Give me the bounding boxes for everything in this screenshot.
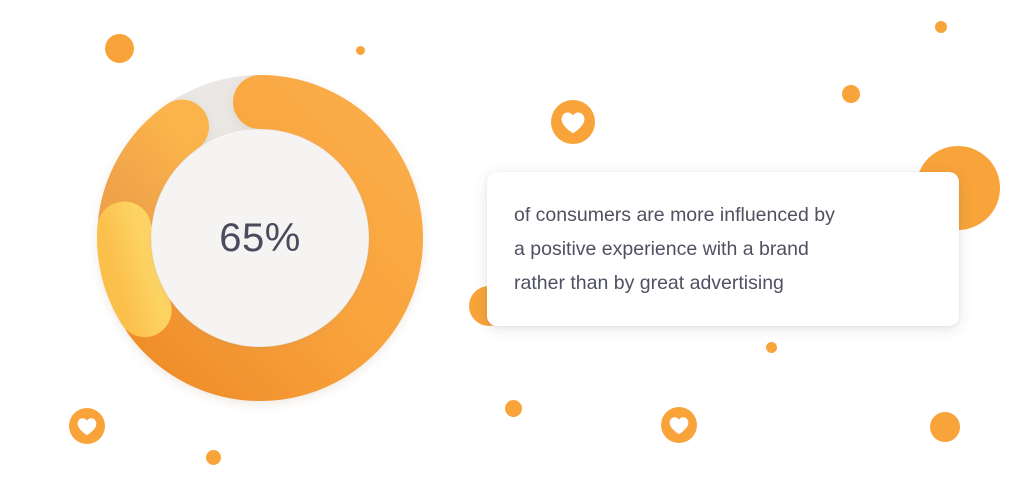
quote-card: of consumers are more influenced by a po… — [487, 172, 959, 326]
heart-badge-left — [69, 408, 105, 444]
blob-upper-right — [842, 85, 860, 103]
blob-top-left — [105, 34, 134, 63]
blob-bottom-mid — [505, 400, 522, 417]
blob-mid-right — [766, 342, 777, 353]
quote-text: of consumers are more influenced by a po… — [514, 198, 931, 300]
blob-bottom-left — [206, 450, 221, 465]
heart-badge-bottom — [661, 407, 697, 443]
donut-chart: 65% — [95, 73, 425, 403]
heart-icon — [69, 408, 105, 444]
blob-bottom-right — [930, 412, 960, 442]
heart-badge-top — [551, 100, 595, 144]
donut-center-value: 65% — [95, 73, 425, 403]
heart-icon — [661, 407, 697, 443]
heart-icon — [551, 100, 595, 144]
infographic-canvas: 65% of consumers are more influenced by … — [0, 0, 1018, 493]
blob-top-mid — [356, 46, 365, 55]
blob-top-right — [935, 21, 947, 33]
